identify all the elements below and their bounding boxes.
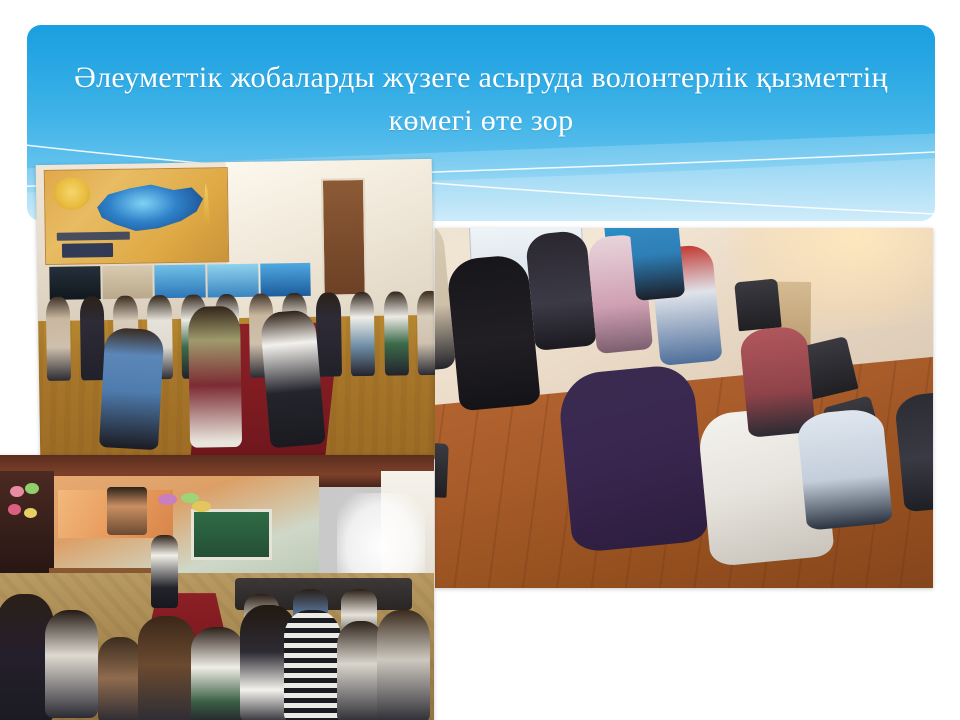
participant-figure: [627, 228, 686, 300]
photo-floor-activity[interactable]: [435, 228, 933, 588]
photo-hall-performance-content: [36, 159, 437, 465]
audience-figure: [138, 616, 195, 720]
kazakhstan-2030-poster: [44, 167, 230, 265]
student-figure: [79, 296, 105, 381]
photo-hall-performance[interactable]: [36, 159, 437, 465]
photo-auditorium-talk-content: [0, 455, 434, 720]
presentation-slide: Әлеуметтік жобаларды жүзеге асыруда воло…: [0, 0, 960, 720]
audience-figure: [377, 610, 430, 720]
kazakhstan-map-graphic: [92, 179, 206, 238]
balloon-cluster-center: [151, 493, 222, 541]
participant-figure: [796, 407, 893, 531]
participant-figure: [739, 324, 817, 437]
poster-year-label: [62, 243, 113, 258]
student-figure: [383, 291, 409, 376]
audience-figure: [98, 637, 142, 720]
participant-figure: [557, 362, 709, 553]
poster-emblem-icon: [52, 175, 93, 212]
photo-auditorium-talk[interactable]: [0, 455, 434, 720]
student-figure: [316, 292, 342, 377]
balloon-cluster-left: [5, 482, 67, 546]
slide-title: Әлеуметтік жобаларды жүзеге асыруда воло…: [27, 57, 935, 142]
baiterek-tower-icon: [198, 183, 215, 226]
student-figure: [46, 296, 72, 381]
audience-figure: [191, 627, 244, 720]
participant-figure: [525, 229, 598, 350]
participant-figure: [446, 253, 540, 412]
office-chair: [734, 278, 782, 331]
balloon: [24, 508, 38, 519]
poster-country-label: [57, 231, 130, 241]
photo-floor-activity-content: [435, 228, 933, 588]
audience-figure: [45, 610, 98, 717]
stage-portrait: [107, 487, 147, 535]
performer-figure: [99, 327, 165, 450]
balloon: [158, 494, 176, 505]
balloon: [192, 501, 210, 512]
presenter-figure: [151, 535, 178, 607]
student-figure: [349, 292, 375, 377]
balloon: [10, 486, 24, 497]
performer-figure: [188, 306, 242, 448]
balloon: [25, 483, 39, 494]
student-figure: [417, 291, 436, 376]
audience-figure: [284, 610, 341, 720]
balloon: [8, 504, 22, 515]
performer-figure: [259, 309, 326, 448]
